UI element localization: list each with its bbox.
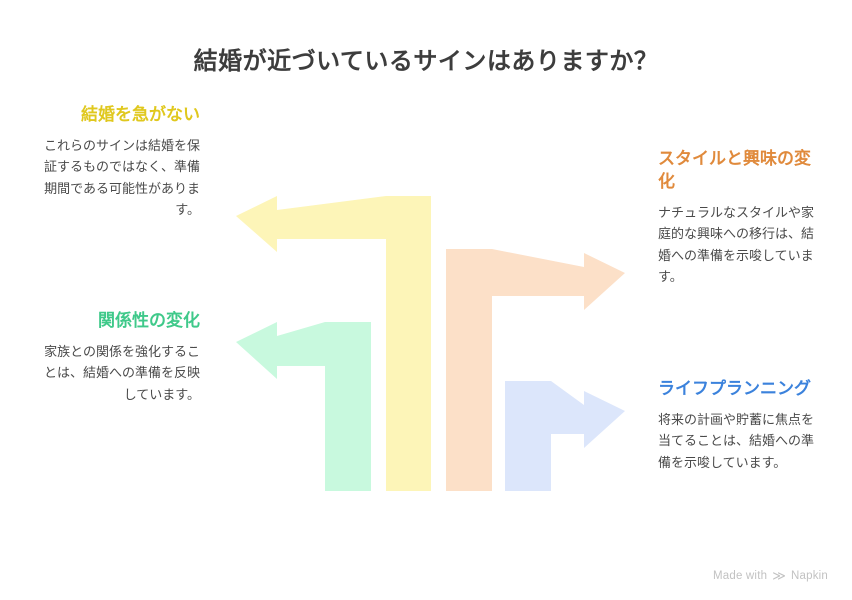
callout-body-yellow: これらのサインは結婚を保証するものではなく、準備期間である可能性があります。 [32,135,200,221]
arrow-shape-orange [446,249,625,491]
callout-heading-yellow: 結婚を急がない [32,104,200,127]
callout-block-orange: スタイルと興味の変化 ナチュラルなスタイルや家庭的な興味への移行は、結婚への準備… [658,148,820,288]
watermark-made-with-label: Made with [713,570,767,582]
watermark-brand-label: Napkin [791,570,828,582]
arrow-shape-green [236,322,371,491]
callout-heading-blue: ライフプランニング [658,378,820,401]
callout-block-green: 関係性の変化 家族との関係を強化することは、結婚への準備を反映しています。 [32,310,200,405]
arrow-shape-blue [505,381,625,491]
napkin-watermark: Made with ≫ Napkin [713,569,828,582]
bent-arrow-diagram [0,0,852,600]
callout-body-blue: 将来の計画や貯蓄に焦点を当てることは、結婚への準備を示唆しています。 [658,409,820,473]
infographic-canvas: 結婚が近づいているサインはありますか？ 結婚を急がない これらのサインは結婚を保… [0,0,852,600]
arrow-shape-yellow [236,196,431,491]
callout-body-orange: ナチュラルなスタイルや家庭的な興味への移行は、結婚への準備を示唆しています。 [658,202,820,288]
callout-block-blue: ライフプランニング 将来の計画や貯蓄に焦点を当てることは、結婚への準備を示唆して… [658,378,820,473]
callout-block-yellow: 結婚を急がない これらのサインは結婚を保証するものではなく、準備期間である可能性… [32,104,200,221]
napkin-logo-icon: ≫ [772,569,786,582]
callout-heading-green: 関係性の変化 [32,310,200,333]
page-title: 結婚が近づいているサインはありますか？ [0,46,852,77]
callout-heading-orange: スタイルと興味の変化 [658,148,820,194]
callout-body-green: 家族との関係を強化することは、結婚への準備を反映しています。 [32,341,200,405]
